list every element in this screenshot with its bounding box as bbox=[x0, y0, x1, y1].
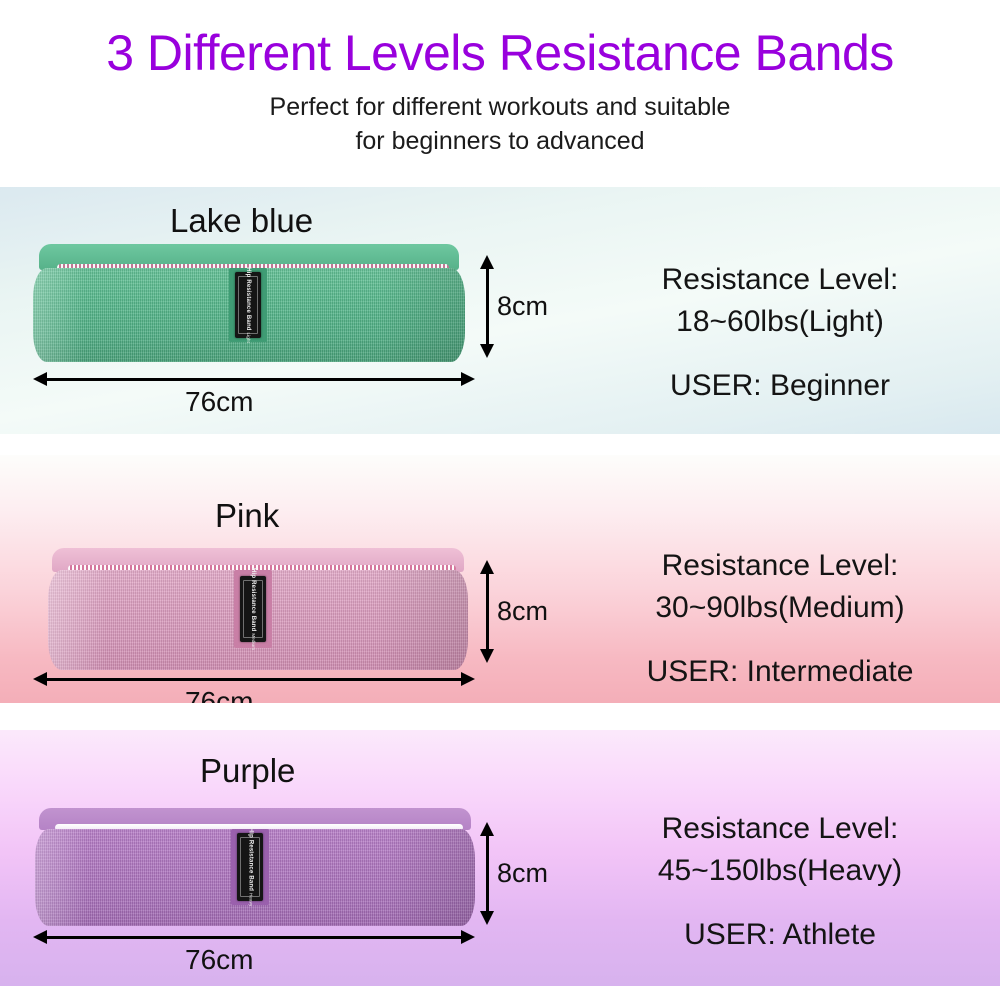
header: 3 Different Levels Resistance Bands Perf… bbox=[0, 0, 1000, 185]
subtitle-line-2: for beginners to advanced bbox=[0, 124, 1000, 158]
height-dimension-arrow bbox=[479, 255, 495, 358]
product-tag-brand: Hip Resistance Band bbox=[245, 267, 251, 330]
height-dimension-arrow bbox=[479, 822, 495, 925]
product-tag-level: Medium bbox=[251, 633, 256, 650]
product-panel-pink: Pink Hip Resistance Band Medium 8cm 76cm bbox=[0, 455, 1000, 703]
color-name-label: Purple bbox=[200, 752, 295, 790]
height-dimension-label: 8cm bbox=[497, 858, 548, 889]
length-dimension-arrow bbox=[33, 929, 475, 945]
user-level-label: USER: Beginner bbox=[570, 365, 990, 407]
user-level-label: USER: Intermediate bbox=[570, 651, 990, 693]
arrow-head-down-icon bbox=[480, 649, 494, 663]
length-dimension-arrow bbox=[33, 671, 475, 687]
product-tag-level: Light bbox=[246, 333, 251, 343]
product-tag: Hip Resistance Band Light bbox=[235, 272, 261, 338]
user-level-label: USER: Athlete bbox=[570, 914, 990, 956]
page-subtitle: Perfect for different workouts and suita… bbox=[0, 90, 1000, 158]
band-info-block: Resistance Level: 45~150lbs(Heavy) USER:… bbox=[570, 808, 990, 956]
resistance-band-image: Hip Resistance Band Light bbox=[33, 244, 465, 362]
arrow-head-right-icon bbox=[461, 930, 475, 944]
resistance-band-image: Hip Resistance Band Medium bbox=[48, 548, 468, 670]
length-dimension-label: 76cm bbox=[185, 386, 253, 418]
length-dimension-label: 76cm bbox=[185, 686, 253, 703]
resistance-level-heading: Resistance Level: bbox=[570, 259, 990, 301]
arrow-head-right-icon bbox=[461, 372, 475, 386]
product-panel-lake-blue: Lake blue Hip Resistance Band Light 8c bbox=[0, 187, 1000, 434]
product-tag-level: Heavy bbox=[248, 893, 253, 906]
length-dimension-arrow bbox=[33, 371, 475, 387]
product-panel-purple: Purple Hip Resistance Band Heavy 8cm 76c… bbox=[0, 730, 1000, 986]
subtitle-line-1: Perfect for different workouts and suita… bbox=[0, 90, 1000, 124]
arrow-shaft bbox=[42, 378, 466, 381]
arrow-head-down-icon bbox=[480, 344, 494, 358]
product-tag-text: Hip Resistance Band Heavy bbox=[246, 828, 254, 907]
height-dimension-label: 8cm bbox=[497, 596, 548, 627]
height-dimension-label: 8cm bbox=[497, 291, 548, 322]
product-tag-text: Hip Resistance Band Medium bbox=[249, 568, 257, 650]
product-tag: Hip Resistance Band Heavy bbox=[237, 833, 263, 901]
resistance-band-image: Hip Resistance Band Heavy bbox=[35, 808, 475, 926]
arrow-shaft bbox=[486, 264, 489, 349]
color-name-label: Pink bbox=[215, 497, 279, 535]
arrow-shaft bbox=[42, 678, 466, 681]
resistance-level-heading: Resistance Level: bbox=[570, 545, 990, 587]
band-info-block: Resistance Level: 18~60lbs(Light) USER: … bbox=[570, 259, 990, 407]
height-dimension-arrow bbox=[479, 560, 495, 663]
resistance-level-value: 45~150lbs(Heavy) bbox=[570, 850, 990, 892]
resistance-level-heading: Resistance Level: bbox=[570, 808, 990, 850]
page-title: 3 Different Levels Resistance Bands bbox=[0, 0, 1000, 82]
arrow-shaft bbox=[42, 936, 466, 939]
resistance-level-value: 18~60lbs(Light) bbox=[570, 301, 990, 343]
arrow-head-right-icon bbox=[461, 672, 475, 686]
resistance-level-value: 30~90lbs(Medium) bbox=[570, 587, 990, 629]
product-tag-brand: Hip Resistance Band bbox=[250, 568, 256, 631]
product-tag-brand: Hip Resistance Band bbox=[247, 828, 253, 891]
product-tag-text: Hip Resistance Band Light bbox=[244, 267, 252, 343]
color-name-label: Lake blue bbox=[170, 202, 313, 240]
product-tag: Hip Resistance Band Medium bbox=[240, 576, 266, 642]
arrow-head-down-icon bbox=[480, 911, 494, 925]
arrow-shaft bbox=[486, 831, 489, 916]
arrow-shaft bbox=[486, 569, 489, 654]
length-dimension-label: 76cm bbox=[185, 944, 253, 976]
band-info-block: Resistance Level: 30~90lbs(Medium) USER:… bbox=[570, 545, 990, 693]
